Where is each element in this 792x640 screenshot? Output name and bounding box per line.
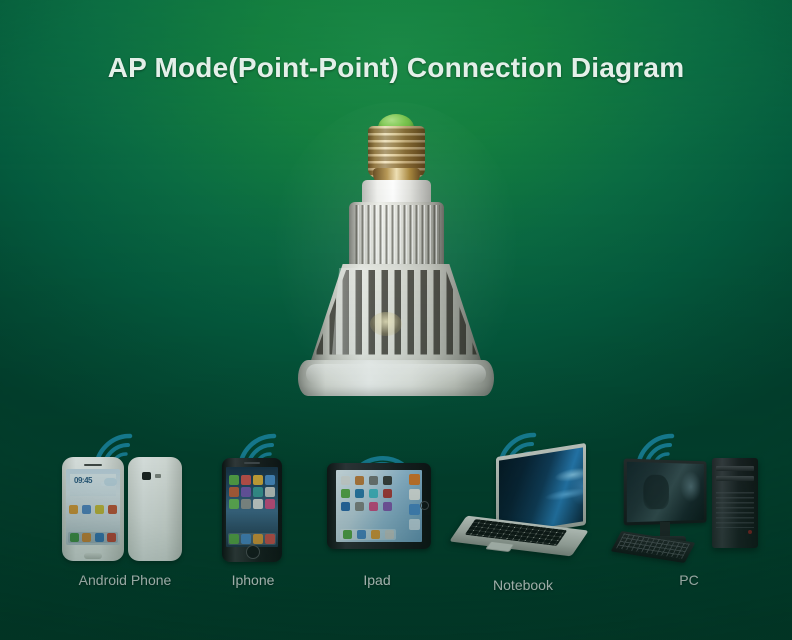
app-icon <box>341 476 350 485</box>
ipad-side-icons <box>409 474 420 530</box>
pc-drive-bay <box>716 476 754 481</box>
android-phone-screen: 09:45 <box>66 469 120 545</box>
camera-icon <box>142 472 151 480</box>
bulb-heatsink-fins <box>353 205 440 269</box>
app-icon <box>369 502 378 511</box>
app-icon <box>241 475 251 485</box>
app-icon <box>241 487 251 497</box>
app-icon <box>383 476 392 485</box>
ipad-screen <box>336 470 422 542</box>
device-android-phone[interactable]: 09:45 <box>62 455 182 563</box>
app-icon <box>409 504 420 515</box>
iphone-screen <box>226 467 278 547</box>
app-icon <box>229 499 239 509</box>
app-icon <box>265 499 275 509</box>
notebook-wallpaper <box>535 452 583 527</box>
wifi-led-bulb <box>292 112 500 404</box>
app-icon <box>355 476 364 485</box>
dock-icon <box>95 533 104 542</box>
dock-icon <box>265 534 275 544</box>
device-label-iphone: Iphone <box>210 572 296 588</box>
notebook-touchpad[interactable] <box>485 541 515 552</box>
dock-icon <box>253 534 263 544</box>
app-icon <box>265 475 275 485</box>
bulb-base-ring-highlight <box>306 364 486 384</box>
dock-icon <box>229 534 239 544</box>
app-icon <box>229 475 239 485</box>
app-icon <box>355 489 364 498</box>
dock-icon <box>343 530 352 539</box>
app-icon <box>409 519 420 530</box>
bulb-led-chip <box>370 312 402 336</box>
diagram-canvas: AP Mode(Point-Point) Connection Diagram <box>0 0 792 640</box>
ipad-app-grid <box>341 476 403 511</box>
app-icon <box>253 487 263 497</box>
ipad-dock <box>340 529 396 540</box>
app-icon <box>253 499 263 509</box>
dock-icon <box>82 533 91 542</box>
app-icon <box>341 502 350 511</box>
app-icon <box>229 487 239 497</box>
app-icon <box>241 499 251 509</box>
bulb-cone-highlight <box>332 268 372 364</box>
pc-wallpaper-highlight <box>677 469 701 513</box>
device-pc[interactable] <box>616 452 768 564</box>
dock-icon <box>385 530 394 539</box>
iphone-earpiece <box>244 462 260 464</box>
iphone-home-button[interactable] <box>246 545 260 559</box>
android-dock <box>68 532 118 543</box>
app-icon <box>383 502 392 511</box>
android-app-row <box>69 505 117 514</box>
app-icon <box>95 505 104 514</box>
android-clock: 09:45 <box>74 476 92 485</box>
dock-icon <box>357 530 366 539</box>
device-ipad[interactable] <box>327 463 431 549</box>
app-icon <box>409 474 420 485</box>
weather-cloud-icon <box>104 478 117 486</box>
dock-icon <box>107 533 116 542</box>
dock-icon <box>241 534 251 544</box>
device-iphone[interactable] <box>222 458 282 562</box>
device-label-android-phone: Android Phone <box>62 572 188 588</box>
page-title: AP Mode(Point-Point) Connection Diagram <box>0 52 792 84</box>
app-icon <box>108 505 117 514</box>
device-label-notebook: Notebook <box>468 577 578 593</box>
android-earpiece <box>84 464 102 466</box>
power-led-icon <box>748 530 752 534</box>
iphone-app-grid <box>229 475 275 509</box>
dock-icon <box>70 533 79 542</box>
app-icon <box>383 489 392 498</box>
dock-icon <box>371 530 380 539</box>
android-phone-back <box>128 457 182 561</box>
iphone-dock <box>228 533 276 545</box>
app-icon <box>355 502 364 511</box>
app-icon <box>341 489 350 498</box>
app-icon <box>69 505 78 514</box>
android-home-button[interactable] <box>84 553 102 559</box>
pc-tower-vents <box>716 492 754 528</box>
app-icon <box>265 487 275 497</box>
app-icon <box>409 489 420 500</box>
pc-wallpaper-figure <box>643 475 669 510</box>
app-icon <box>253 475 263 485</box>
device-notebook[interactable] <box>458 450 588 562</box>
pc-drive-bay <box>716 466 754 471</box>
app-icon <box>369 489 378 498</box>
ipad-home-button[interactable] <box>420 501 429 510</box>
device-label-pc: PC <box>634 572 744 588</box>
device-label-ipad: Ipad <box>334 572 420 588</box>
app-icon <box>369 476 378 485</box>
app-icon <box>82 505 91 514</box>
flash-icon <box>155 474 161 478</box>
pc-monitor-screen <box>627 462 704 523</box>
